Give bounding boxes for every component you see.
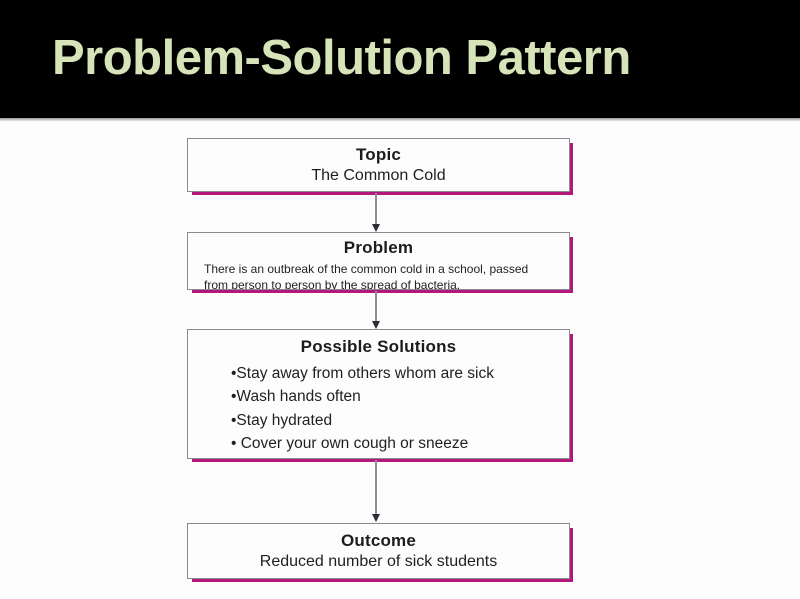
arrow-down-icon-problem-to-solutions: [369, 291, 383, 331]
list-item: •Wash hands often: [231, 385, 569, 409]
flow-node-problem-title: Problem: [188, 238, 569, 259]
flow-node-topic-title: Topic: [188, 145, 569, 166]
slide-canvas: Problem-Solution Pattern Topic The Commo…: [0, 0, 800, 599]
flow-node-possible-solutions[interactable]: Possible Solutions •Stay away from other…: [187, 329, 570, 459]
arrow-shaft: [375, 193, 377, 226]
solutions-bullet-list: •Stay away from others whom are sick •Wa…: [188, 362, 569, 456]
flow-node-topic[interactable]: Topic The Common Cold: [187, 138, 570, 192]
arrow-head: [372, 321, 380, 329]
arrow-down-icon-topic-to-problem: [369, 193, 383, 233]
list-item: • Cover your own cough or sneeze: [231, 432, 569, 456]
arrow-down-icon-solutions-to-outcome: [369, 460, 383, 524]
list-item: •Stay hydrated: [231, 409, 569, 433]
flow-node-problem[interactable]: Problem There is an outbreak of the comm…: [187, 232, 570, 290]
flow-node-problem-body: There is an outbreak of the common cold …: [188, 259, 569, 290]
flow-node-topic-subtitle: The Common Cold: [188, 166, 569, 186]
list-item: •Stay away from others whom are sick: [231, 362, 569, 386]
slide-title-band: Problem-Solution Pattern: [0, 0, 800, 118]
flow-node-solutions-title: Possible Solutions: [188, 337, 569, 358]
page-title: Problem-Solution Pattern: [52, 34, 631, 83]
arrow-head: [372, 224, 380, 232]
problem-solution-flowchart: Topic The Common Cold Problem There is a…: [0, 121, 800, 599]
arrow-shaft: [375, 291, 377, 323]
arrow-shaft: [375, 460, 377, 516]
arrow-head: [372, 514, 380, 522]
flow-node-outcome-subtitle: Reduced number of sick students: [188, 552, 569, 572]
flow-node-outcome[interactable]: Outcome Reduced number of sick students: [187, 523, 570, 579]
flow-node-outcome-title: Outcome: [188, 531, 569, 552]
